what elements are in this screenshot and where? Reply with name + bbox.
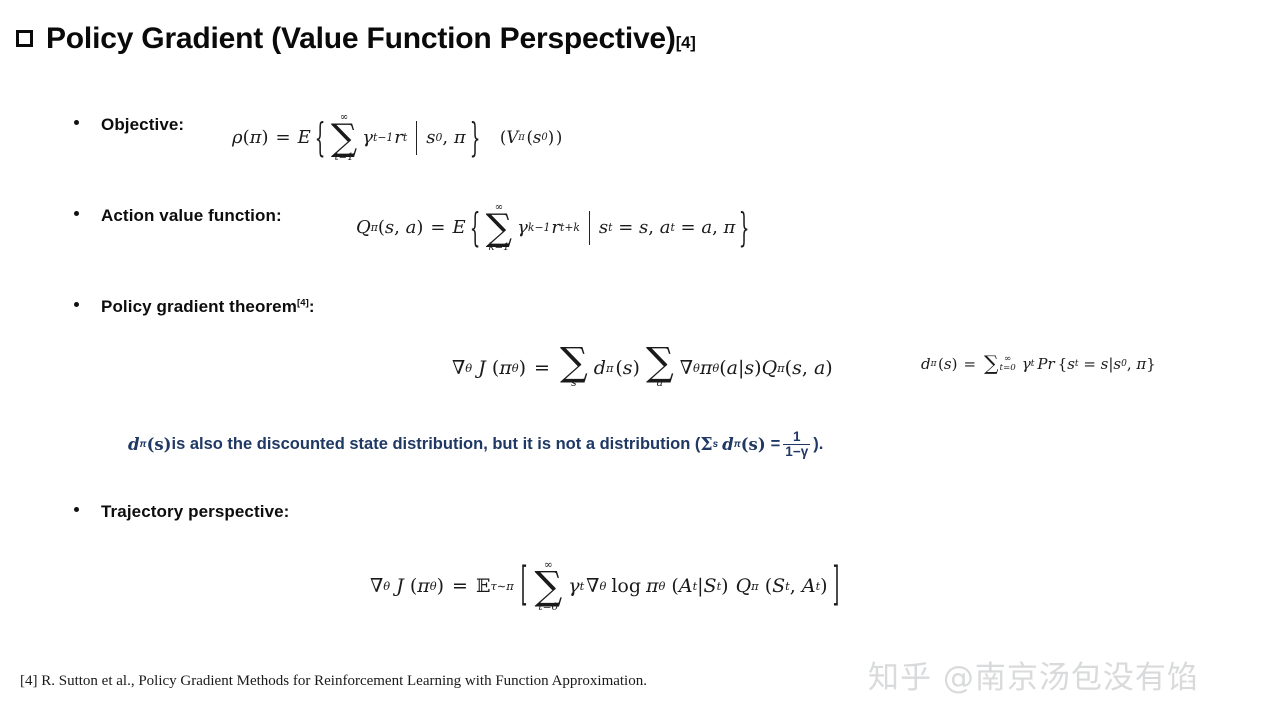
bullet-trajectory-perspective-label: Trajectory perspective:	[101, 502, 289, 522]
bullet-objective: Objective:	[74, 115, 184, 135]
note-fraction: 1 1−γ	[783, 430, 810, 459]
square-bullet-icon	[16, 30, 33, 47]
bullet-action-value-function: Action value function:	[74, 206, 282, 226]
bullet-policy-gradient-theorem-text: Policy gradient theorem	[101, 297, 297, 316]
note-lead-symbol: d	[128, 435, 140, 454]
note-fraction-numerator: 1	[791, 430, 803, 444]
note-fraction-denominator: 1−γ	[783, 444, 810, 459]
bullet-dot-icon	[74, 211, 79, 216]
formula-discounted-state-distribution: dπ (s) = ∑ ∞ t=0 γt Pr { st = s|s0, π }	[921, 355, 1156, 373]
formula-trajectory-perspective: ∇θ J (πθ) = 𝔼τ∼π [ ∞ ∑ t=0 γt∇θ log πθ (…	[370, 560, 844, 613]
bullet-dot-icon	[74, 120, 79, 125]
footnote-reference: [4] R. Sutton et al., Policy Gradient Me…	[20, 673, 647, 690]
watermark: 知乎 @南京汤包没有馅	[868, 652, 1199, 697]
formula-policy-gradient-theorem: ∇θ J (πθ) = ∑ s dπ (s) ∑ a ∇θπθ(a|s)Qπ(s…	[452, 346, 833, 389]
bullet-action-value-function-label: Action value function:	[101, 206, 282, 226]
note-equals: =	[771, 435, 781, 454]
bullet-dot-icon	[74, 302, 79, 307]
page-title-text: Policy Gradient (Value Function Perspect…	[46, 22, 676, 56]
note-tail: ).	[813, 435, 823, 454]
bullet-objective-label: Objective:	[101, 115, 184, 135]
note-sum-symbol: Σ	[700, 435, 712, 455]
note-discounted-state-distribution: dπ(s) is also the discounted state distr…	[128, 430, 823, 459]
note-sum-term-symbol: d	[722, 435, 734, 454]
bullet-dot-icon	[74, 507, 79, 512]
page-title: Policy Gradient (Value Function Perspect…	[16, 22, 696, 56]
bullet-policy-gradient-theorem-label: Policy gradient theorem[4]:	[101, 297, 315, 317]
bullet-policy-gradient-theorem-superscript: [4]	[297, 297, 309, 308]
bullet-policy-gradient-theorem-suffix: :	[309, 297, 315, 316]
bullet-trajectory-perspective: Trajectory perspective:	[74, 502, 289, 522]
note-text: is also the discounted state distributio…	[171, 435, 700, 454]
bullet-policy-gradient-theorem: Policy gradient theorem[4]:	[74, 297, 315, 317]
formula-objective: ρ(π) = E { ∞ ∑ t=1 γt−1rt s0, π } (Vπ (s…	[232, 113, 562, 163]
note-lead-argument: (s)	[147, 435, 172, 454]
formula-action-value-function: Qπ(s, a) = E { ∞ ∑ k=1 γk−1rt+k st = s, …	[356, 203, 754, 253]
note-sum-term-argument: (s)	[741, 435, 766, 454]
